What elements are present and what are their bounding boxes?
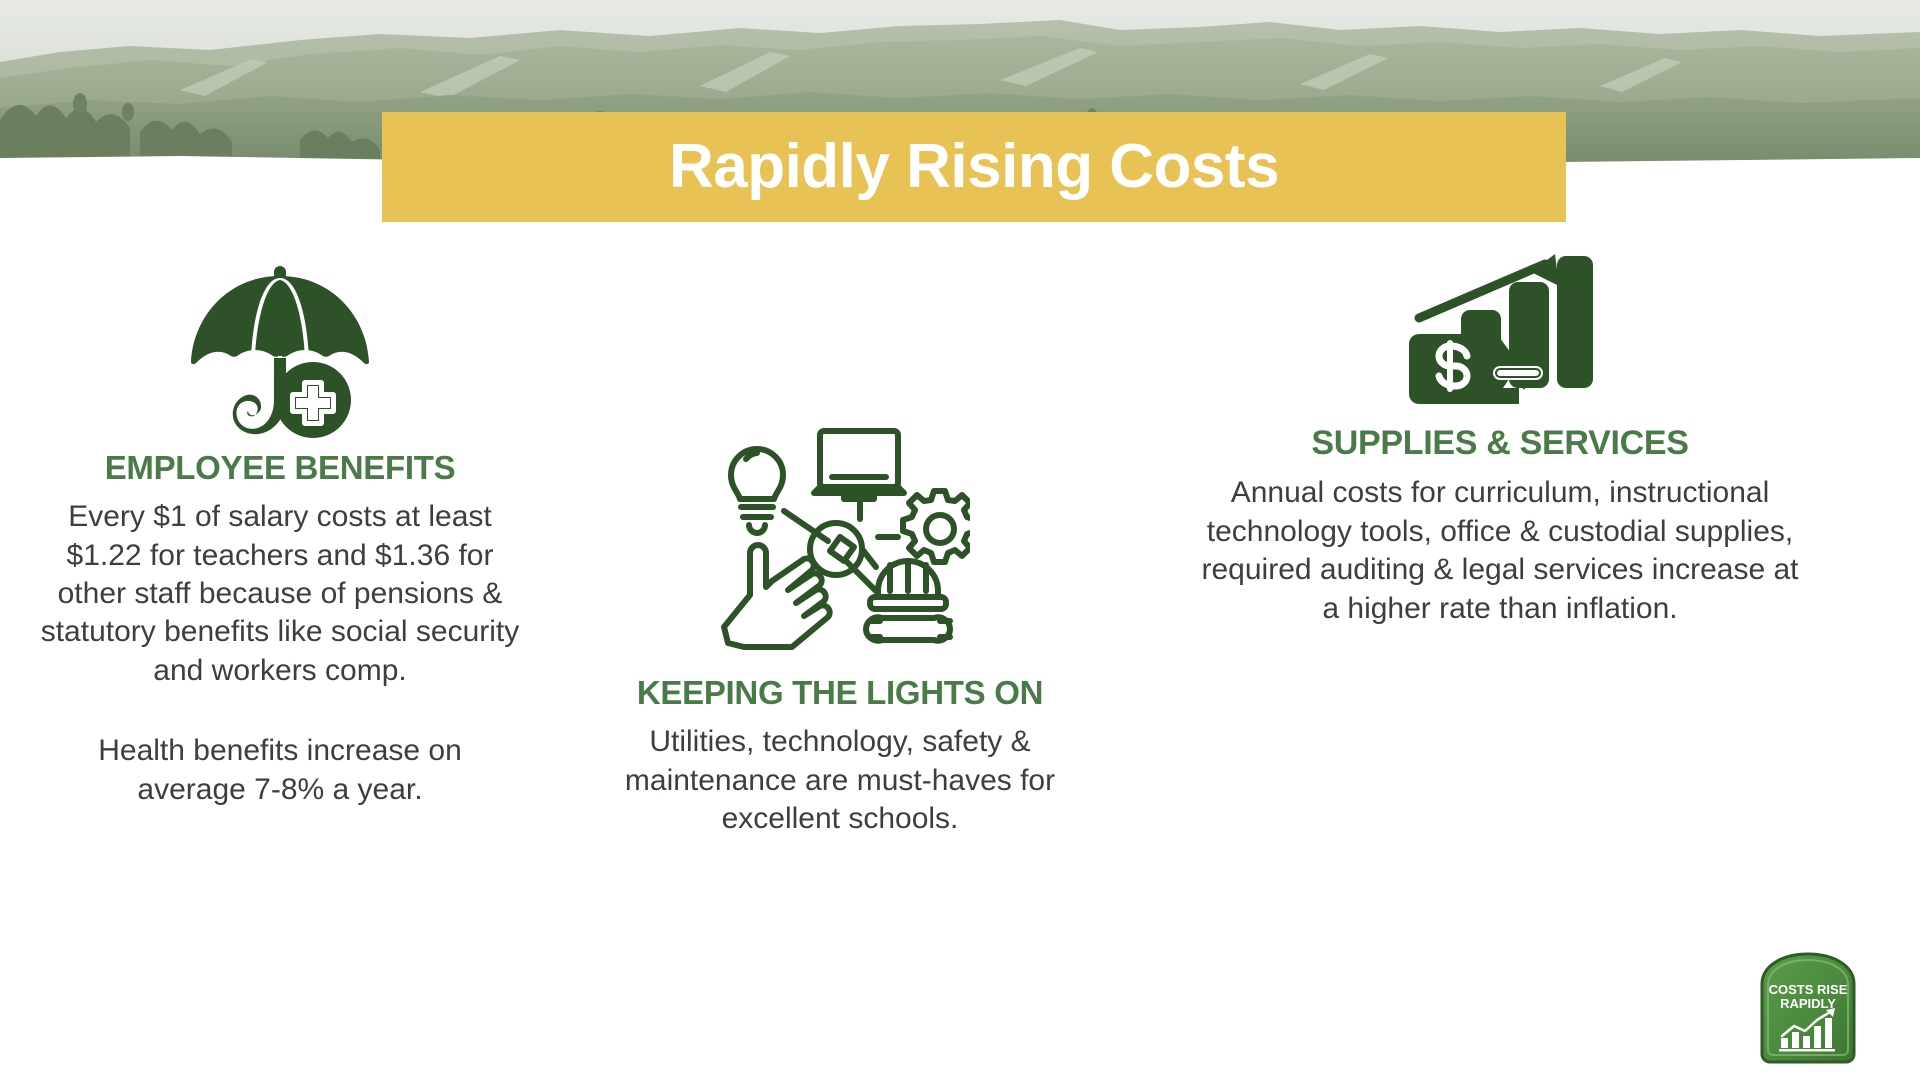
badge-line-2: RAPIDLY xyxy=(1780,996,1836,1011)
body-paragraph: Annual costs for curriculum, instruction… xyxy=(1190,474,1810,628)
title-banner: Rapidly Rising Costs xyxy=(382,112,1566,222)
body-paragraph: Every $1 of salary costs at least $1.22 … xyxy=(40,498,520,690)
page-title: Rapidly Rising Costs xyxy=(669,136,1279,198)
column-body-keeping-the-lights-on: Utilities, technology, safety & maintena… xyxy=(600,723,1080,838)
utilities-technology-maintenance-icon xyxy=(600,415,1080,665)
column-employee-benefits: EMPLOYEE BENEFITS Every $1 of salary cos… xyxy=(40,260,520,809)
money-bag-rising-chart-icon xyxy=(1190,240,1810,415)
column-heading-keeping-the-lights-on: KEEPING THE LIGHTS ON xyxy=(600,675,1080,711)
column-keeping-the-lights-on: KEEPING THE LIGHTS ON Utilities, technol… xyxy=(600,415,1080,838)
column-body-supplies-and-services: Annual costs for curriculum, instruction… xyxy=(1190,474,1810,628)
costs-rise-rapidly-badge: COSTS RISE RAPIDLY xyxy=(1752,950,1864,1068)
umbrella-medical-cross-icon xyxy=(40,260,520,440)
column-heading-employee-benefits: EMPLOYEE BENEFITS xyxy=(40,450,520,486)
infographic-slide: Rapidly Rising Costs xyxy=(0,0,1920,1080)
column-body-employee-benefits: Every $1 of salary costs at least $1.22 … xyxy=(40,498,520,809)
content-columns: EMPLOYEE BENEFITS Every $1 of salary cos… xyxy=(0,230,1920,1080)
body-paragraph: Health benefits increase on average 7-8%… xyxy=(40,732,520,809)
body-paragraph: Utilities, technology, safety & maintena… xyxy=(600,723,1080,838)
column-heading-supplies-and-services: SUPPLIES & SERVICES xyxy=(1190,425,1810,462)
badge-line-1: COSTS RISE xyxy=(1769,982,1848,997)
column-supplies-and-services: SUPPLIES & SERVICES Annual costs for cur… xyxy=(1190,240,1810,628)
